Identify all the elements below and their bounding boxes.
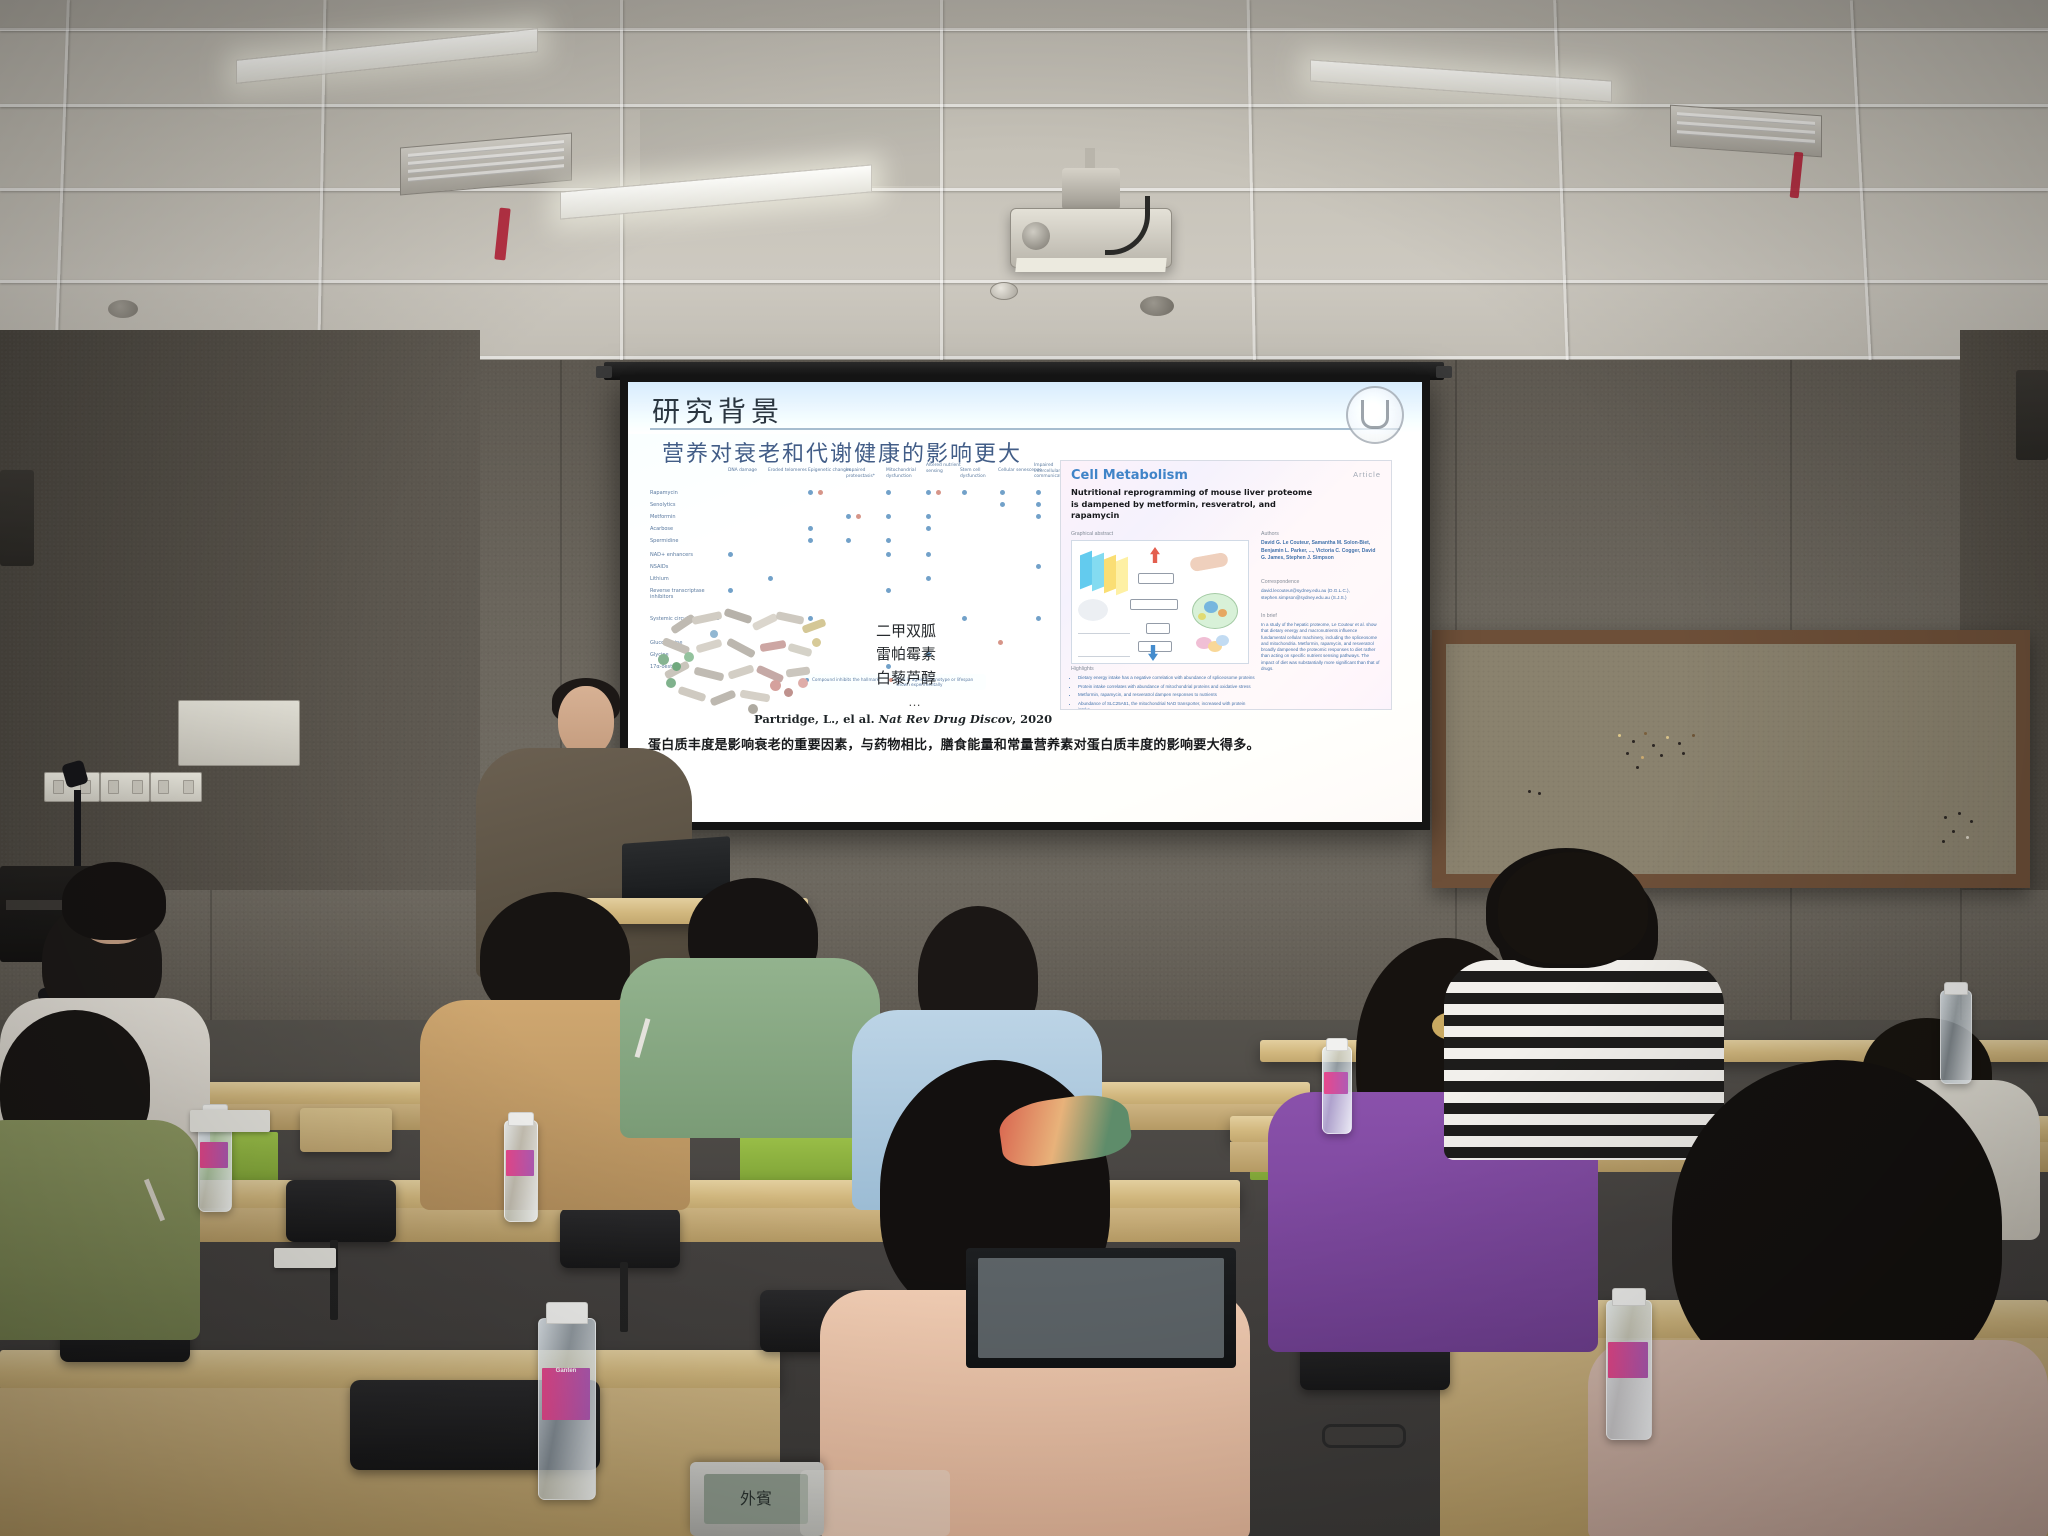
- screen-end-cap-left: [596, 366, 612, 378]
- smoke-detector-icon: [990, 282, 1018, 300]
- drug-list: 二甲双胍 雷帕霉素 白藜芦醇: [876, 620, 936, 690]
- switch-button[interactable]: [53, 780, 64, 794]
- chair-leg: [620, 1262, 628, 1332]
- correspondence-label: Correspondence: [1261, 579, 1299, 585]
- projector-lens-icon: [1022, 222, 1050, 250]
- slide-citation: Partridge, L., el al. Nat Rev Drug Disco…: [754, 712, 1052, 726]
- vent-ribbon-marker-2: [1790, 152, 1804, 199]
- ceiling-air-vent-2: [1670, 105, 1822, 158]
- ceiling-light-3: [1310, 59, 1612, 102]
- laptop-audience-screen: [978, 1258, 1224, 1358]
- pushpin: [1970, 820, 1973, 823]
- matrix-dot: [962, 616, 967, 621]
- drug-item: 白藜芦醇: [876, 667, 936, 690]
- switch-button[interactable]: [108, 780, 119, 794]
- pushpin: [1966, 836, 1969, 839]
- matrix-dot: [886, 588, 891, 593]
- matrix-dot: [886, 490, 891, 495]
- pushpin: [1528, 790, 1531, 793]
- matrix-dot: [962, 490, 967, 495]
- matrix-dot: [1036, 490, 1041, 495]
- projector-light-plate: [1015, 258, 1166, 272]
- wall-access-panel: [178, 700, 300, 766]
- highlights-label: Highlights: [1071, 666, 1094, 672]
- bottle-label-ganten: Ganten: [542, 1368, 590, 1420]
- water-bottle[interactable]: [1940, 990, 1972, 1084]
- wall-speaker: [0, 470, 34, 566]
- ceiling-speaker-icon-2: [108, 300, 138, 318]
- attendee-hair: [62, 862, 166, 940]
- highlight-item: Dietary energy intake has a negative cor…: [1078, 675, 1258, 682]
- slide-caption: 蛋白质丰度是影响衰老的重要因素，与药物相比，膳食能量和常量营养素对蛋白质丰度的影…: [648, 734, 1408, 753]
- ga-node-protein: [1138, 573, 1174, 584]
- switch-button[interactable]: [183, 780, 194, 794]
- matrix-dot: [926, 526, 931, 531]
- pushpin: [1944, 816, 1947, 819]
- matrix-row-label: Acarbose: [650, 526, 724, 532]
- attendee-body: [0, 1120, 200, 1340]
- drug-item: 二甲双胍: [876, 620, 936, 643]
- pushpin: [1618, 734, 1621, 737]
- pushpin: [1641, 756, 1644, 759]
- light-switch-panel-b[interactable]: [100, 772, 150, 802]
- matrix-row-label: Lithium: [650, 576, 724, 582]
- matrix-dot: [1036, 514, 1041, 519]
- drug-item: 雷帕霉素: [876, 643, 936, 666]
- matrix-dot: [808, 526, 813, 531]
- matrix-dot: [1036, 616, 1041, 621]
- pushpin: [1538, 792, 1541, 795]
- matrix-dot: [818, 490, 823, 495]
- vent-ribbon-marker: [494, 208, 510, 261]
- matrix-dot: [728, 588, 733, 593]
- matrix-row-label: Reverse transcriptase inhibitors: [650, 588, 724, 600]
- chair[interactable]: [286, 1180, 396, 1242]
- light-switch-panel-c[interactable]: [150, 772, 202, 802]
- pushpin: [1644, 732, 1647, 735]
- paper-title: Nutritional reprogramming of mouse liver…: [1071, 487, 1321, 522]
- bottle-cap[interactable]: [1612, 1288, 1646, 1306]
- article-type-label: Article: [1353, 470, 1381, 479]
- desk-panel-green: [740, 1130, 870, 1184]
- pushpin: [1942, 840, 1945, 843]
- plastic-bag: [800, 1470, 950, 1536]
- bottle-cap[interactable]: [508, 1112, 534, 1126]
- highlight-item: Protein intake correlates with abundance…: [1078, 684, 1258, 691]
- pushpin: [1632, 740, 1635, 743]
- matrix-dot: [926, 514, 931, 519]
- matrix-row-label: Rapamycin: [650, 490, 724, 496]
- pushpin: [1652, 744, 1655, 747]
- matrix-dot: [856, 514, 861, 519]
- chair[interactable]: [560, 1208, 680, 1268]
- citation-authors: Partridge, L., el al.: [754, 712, 879, 726]
- matrix-dot: [886, 538, 891, 543]
- screen-end-cap-right: [1436, 366, 1452, 378]
- matrix-dot: [1036, 564, 1041, 569]
- citation-year: , 2020: [1012, 712, 1052, 726]
- matrix-row-label: NAD+ enhancers: [650, 552, 724, 558]
- pushpin: [1952, 830, 1955, 833]
- ga-node-fat: [1146, 623, 1170, 634]
- graphical-abstract-label: Graphical abstract: [1071, 531, 1113, 537]
- bottle-label: [506, 1150, 534, 1176]
- glasses-icon[interactable]: [1322, 1424, 1406, 1448]
- highlight-item: Metformin, rapamycin, and resveratrol da…: [1078, 692, 1258, 699]
- matrix-row-label: Metformin: [650, 514, 724, 520]
- notebook[interactable]: [274, 1248, 336, 1268]
- matrix-dot: [886, 552, 891, 557]
- attendee-body: [620, 958, 880, 1138]
- matrix-dot: [1000, 490, 1005, 495]
- pushpin: [1682, 752, 1685, 755]
- pushpin: [1692, 734, 1695, 737]
- bottle-label: [1324, 1072, 1348, 1094]
- ceiling-speaker-icon: [1140, 296, 1174, 316]
- pushpin: [1958, 812, 1961, 815]
- matrix-dot: [886, 514, 891, 519]
- bottle-cap[interactable]: [1326, 1038, 1348, 1051]
- bottle-brand-text: Ganten: [542, 1368, 590, 1375]
- bottle-cap[interactable]: [1944, 982, 1968, 995]
- paper-in-brief: In a study of the hepatic proteome, Le C…: [1261, 622, 1383, 672]
- presentation-slide: 研究背景 营养对衰老和代谢健康的影响更大 DNA damage Eroded t…: [628, 382, 1422, 822]
- bottle-label: [200, 1142, 228, 1168]
- pushpin: [1626, 752, 1629, 755]
- switch-button[interactable]: [158, 780, 169, 794]
- anti-aging-molecule-art: [652, 608, 842, 718]
- in-brief-label: In brief: [1261, 613, 1277, 619]
- highlight-item: Abundance of SLC25A51, the mitochondrial…: [1078, 701, 1258, 710]
- journal-name: Cell Metabolism: [1071, 468, 1188, 483]
- matrix-dot: [1036, 502, 1041, 507]
- attendee-body: [1444, 960, 1724, 1160]
- matrix-dot: [728, 552, 733, 557]
- matrix-dot: [926, 490, 931, 495]
- pushpin: [1660, 754, 1663, 757]
- paper-authors: David G. Le Couteur, Samantha M. Solon-B…: [1261, 540, 1381, 563]
- lecture-room-photo: 研究背景 营养对衰老和代谢健康的影响更大 DNA damage Eroded t…: [0, 0, 2048, 1536]
- matrix-dot: [846, 514, 851, 519]
- matrix-dot: [936, 490, 941, 495]
- pushpin: [1636, 766, 1639, 769]
- ceiling-air-vent: [400, 132, 572, 195]
- matrix-dot: [768, 576, 773, 581]
- matrix-dot: [926, 576, 931, 581]
- attendee-body: [1588, 1340, 2048, 1536]
- matrix-dot: [808, 490, 813, 495]
- paper-correspondence: david.lecouteur@sydney.edu.au (D.G.L.C.)…: [1261, 588, 1381, 601]
- paper-figure-card: Cell Metabolism Article Nutritional repr…: [1060, 460, 1392, 710]
- drug-list-ellipsis: …: [908, 694, 923, 709]
- paper-highlights: Dietary energy intake has a negative cor…: [1071, 675, 1258, 710]
- matrix-dot: [808, 538, 813, 543]
- attendee-hair: [1498, 852, 1648, 964]
- switch-button[interactable]: [132, 780, 143, 794]
- clicker-screen-text: 外賓: [704, 1474, 808, 1524]
- wall-speaker-right: [2016, 370, 2048, 460]
- citation-journal: Nat Rev Drug Discov: [879, 712, 1012, 726]
- ceiling-light-2: [236, 28, 538, 84]
- matrix-dot: [926, 552, 931, 557]
- slide-title-rule: [650, 428, 1400, 430]
- left-wall: [0, 330, 480, 890]
- presenter-head: [558, 686, 614, 756]
- matrix-dot: [1000, 502, 1005, 507]
- graphical-abstract: [1071, 540, 1249, 664]
- pushpin: [1678, 742, 1681, 745]
- pushpin: [1666, 736, 1669, 739]
- matrix-row-label: Spermidine: [650, 538, 724, 544]
- authors-label: Authors: [1261, 531, 1279, 537]
- bottle-label: [1608, 1342, 1648, 1378]
- notebook[interactable]: [190, 1110, 270, 1132]
- matrix-dot: [998, 640, 1003, 645]
- ga-node-carbohydrate: [1130, 599, 1178, 610]
- university-seal-logo: [1346, 386, 1404, 444]
- matrix-row-label: NSAIDs: [650, 564, 724, 570]
- bottle-cap[interactable]: [546, 1302, 588, 1324]
- slide-title: 研究背景: [652, 390, 784, 430]
- matrix-row-label: Senolytics: [650, 502, 724, 508]
- wall-corkboard: [1432, 630, 2030, 888]
- matrix-dot: [846, 538, 851, 543]
- cardboard-tray[interactable]: [300, 1108, 392, 1152]
